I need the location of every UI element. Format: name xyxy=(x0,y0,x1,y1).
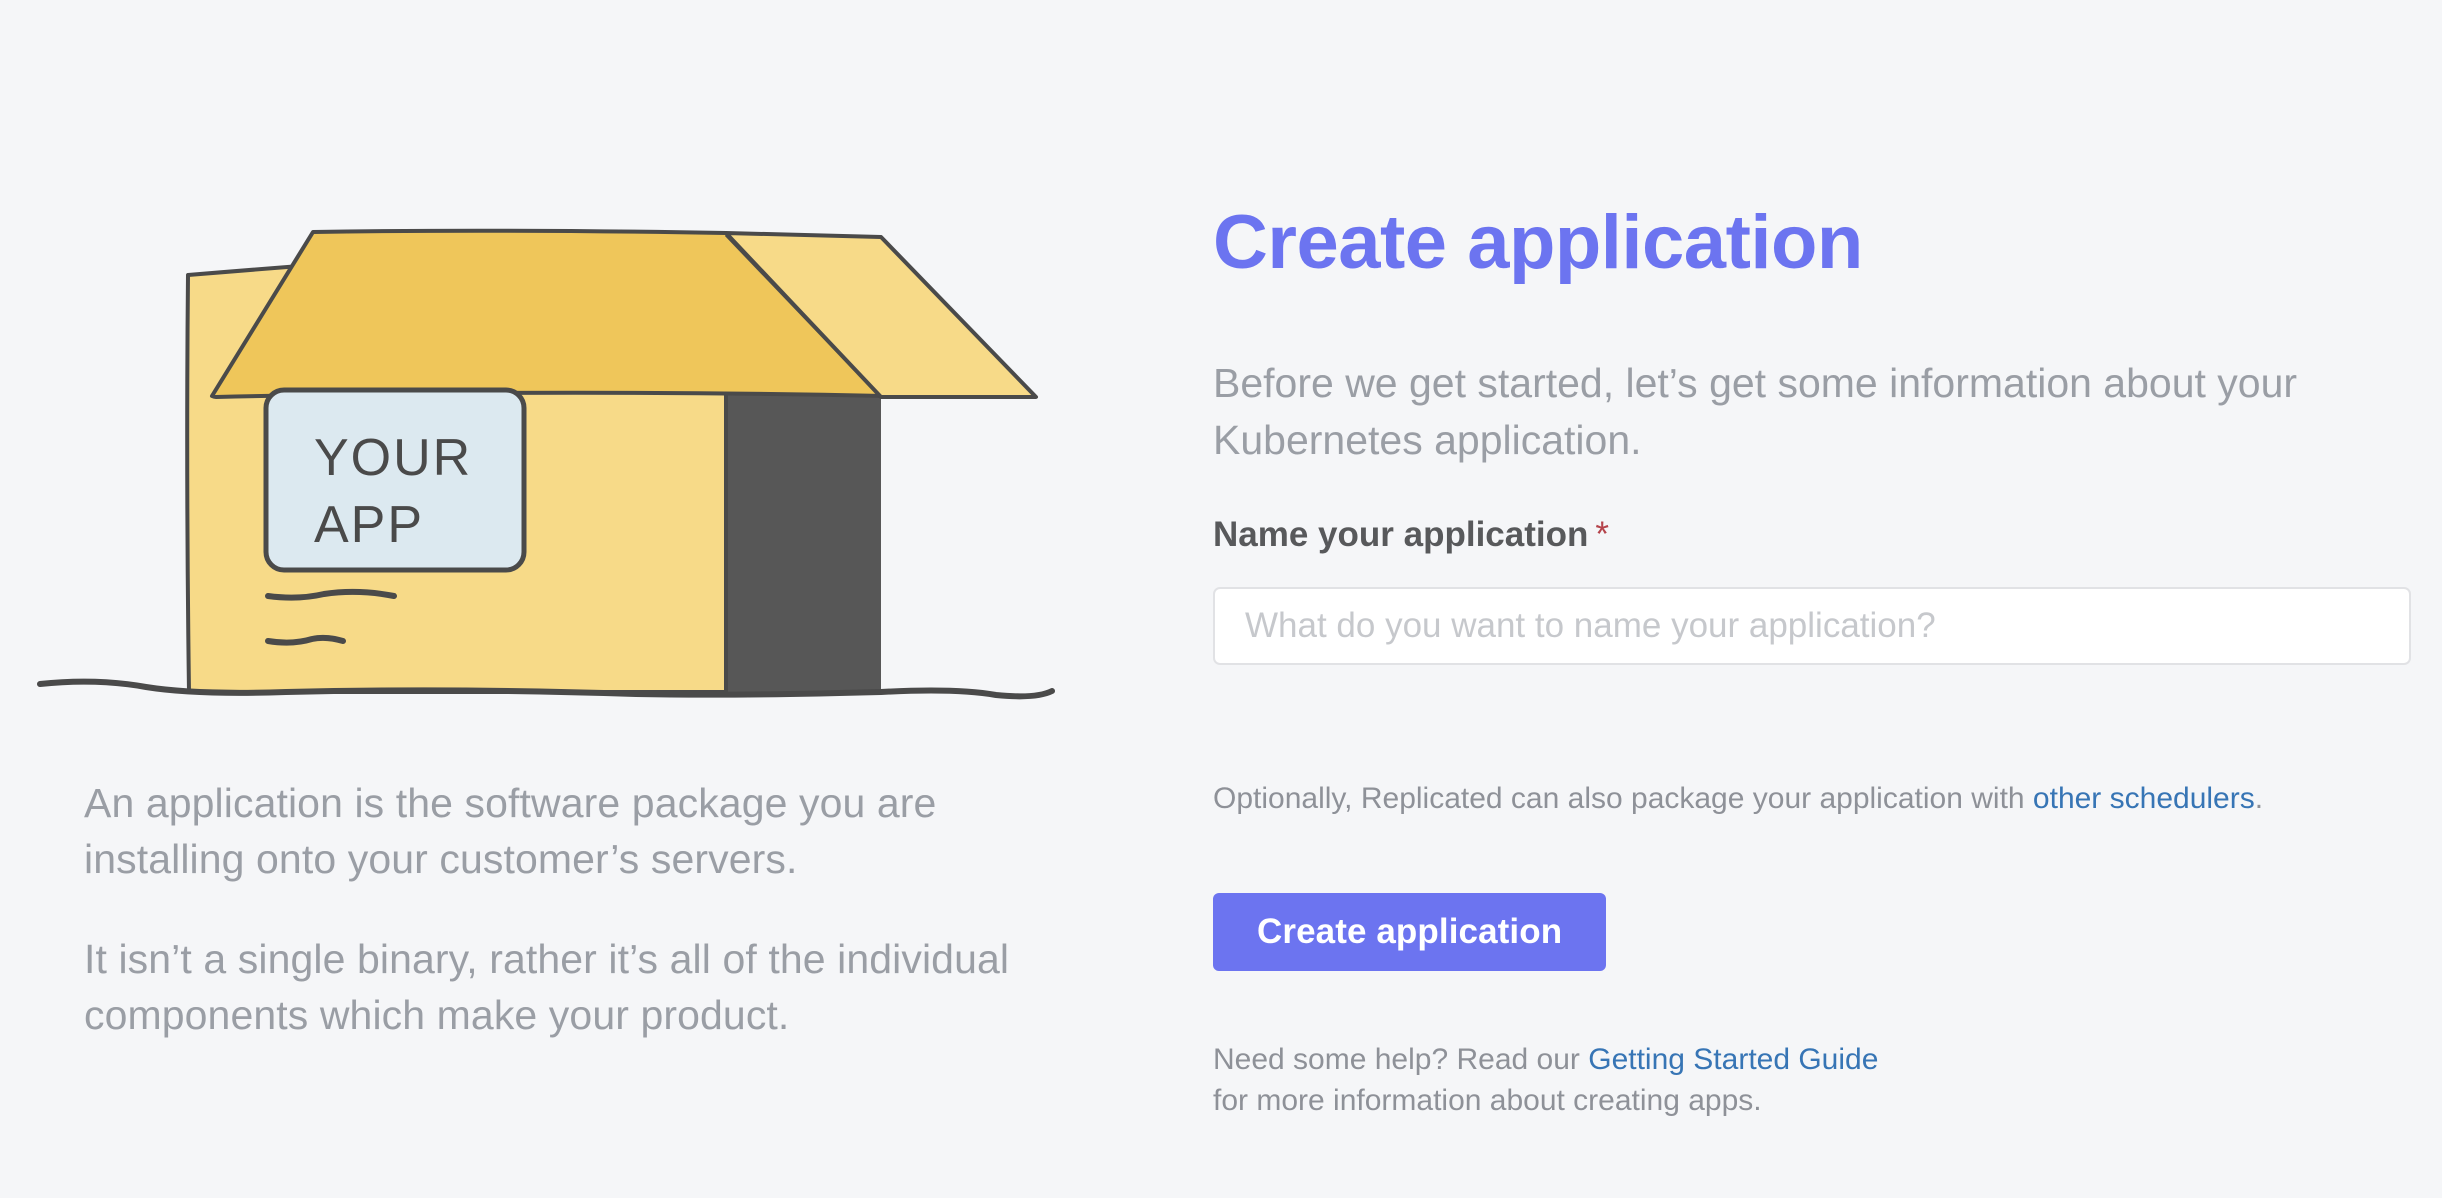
other-schedulers-note: Optionally, Replicated can also package … xyxy=(1213,779,2263,818)
application-name-input[interactable] xyxy=(1213,587,2411,665)
info-paragraph-2: It isn’t a single binary, rather it’s al… xyxy=(84,931,1014,1043)
box-label-line2: APP xyxy=(314,496,424,554)
help-note-prefix: Need some help? Read our xyxy=(1213,1043,1588,1076)
form-column: Create application Before we get started… xyxy=(1213,0,2442,1198)
other-schedulers-link[interactable]: other schedulers xyxy=(2033,782,2255,815)
page-title: Create application xyxy=(1213,205,1863,281)
cardboard-box-illustration: YOUR APP xyxy=(36,175,1056,735)
box-label-line1: YOUR xyxy=(314,429,472,487)
create-application-page: YOUR APP An application is the software … xyxy=(0,0,2442,1198)
info-column: YOUR APP An application is the software … xyxy=(0,0,1140,1198)
info-paragraph-1: An application is the software package y… xyxy=(84,775,1014,887)
help-note: Need some help? Read our Getting Started… xyxy=(1213,1040,1878,1121)
help-note-suffix: for more information about creating apps… xyxy=(1213,1084,1762,1117)
required-asterisk: * xyxy=(1595,515,1609,554)
page-subtitle: Before we get started, let’s get some in… xyxy=(1213,355,2353,468)
application-name-label-text: Name your application xyxy=(1213,515,1588,554)
info-text-block: An application is the software package y… xyxy=(84,775,1014,1044)
other-schedulers-note-prefix: Optionally, Replicated can also package … xyxy=(1213,782,2033,815)
create-application-button[interactable]: Create application xyxy=(1213,893,1606,971)
getting-started-guide-link[interactable]: Getting Started Guide xyxy=(1588,1043,1878,1076)
other-schedulers-note-suffix: . xyxy=(2255,782,2263,815)
application-name-label: Name your application* xyxy=(1213,517,1609,552)
